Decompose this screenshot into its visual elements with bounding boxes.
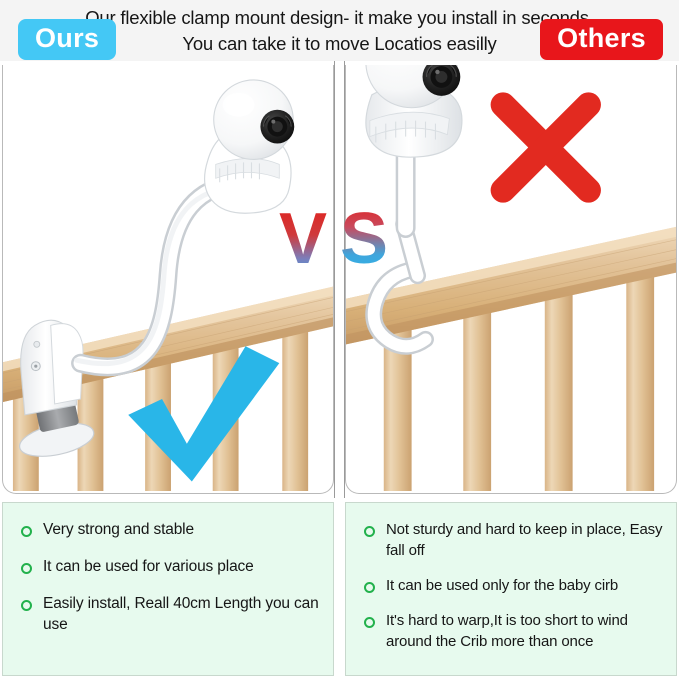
feature-box-others: Not sturdy and hard to keep in place, Ea…: [345, 502, 677, 676]
cross-x-icon: [503, 105, 588, 190]
vs-letter-s: S: [340, 203, 388, 269]
ours-illustration: [3, 65, 333, 491]
list-item: Easily install, Reall 40cm Length you ca…: [21, 593, 323, 635]
divider-line-right: [344, 61, 345, 498]
badge-others: Others: [540, 19, 663, 60]
vs-letter-v: V: [279, 203, 327, 269]
list-item: Not sturdy and hard to keep in place, Ea…: [364, 519, 666, 561]
badge-ours: Ours: [18, 19, 116, 60]
header-line-2: You can take it to move Locatios easilly: [182, 31, 496, 57]
others-feature-list: Not sturdy and hard to keep in place, Ea…: [364, 519, 666, 652]
others-illustration: [346, 65, 676, 491]
feature-text: It can be used for various place: [43, 556, 254, 577]
list-item: It can be used for various place: [21, 556, 323, 577]
vs-graphic: V S: [277, 203, 402, 269]
bullet-icon: [364, 582, 375, 593]
divider-line-left: [334, 61, 335, 498]
bullet-icon: [21, 563, 32, 574]
camera-head: [214, 80, 295, 160]
ours-feature-list: Very strong and stable It can be used fo…: [21, 519, 323, 635]
feature-text: It can be used only for the baby cirb: [386, 575, 618, 596]
list-item: It can be used only for the baby cirb: [364, 575, 666, 596]
list-item: Very strong and stable: [21, 519, 323, 540]
feature-text: It's hard to warp,It is too short to win…: [386, 610, 666, 652]
bullet-icon: [364, 526, 375, 537]
feature-text: Very strong and stable: [43, 519, 194, 540]
panel-others: [345, 65, 677, 494]
bullet-icon: [21, 526, 32, 537]
bullet-icon: [364, 617, 375, 628]
header-line-1: Our flexible clamp mount design- it make…: [85, 5, 594, 31]
bullet-icon: [21, 600, 32, 611]
list-item: It's hard to warp,It is too short to win…: [364, 610, 666, 652]
feature-box-ours: Very strong and stable It can be used fo…: [2, 502, 334, 676]
panel-ours: [2, 65, 334, 494]
feature-boxes: Very strong and stable It can be used fo…: [0, 502, 679, 678]
product-comparison-image: Our flexible clamp mount design- it make…: [0, 0, 679, 678]
comparison-panels: [0, 61, 679, 498]
feature-text: Not sturdy and hard to keep in place, Ea…: [386, 519, 666, 561]
feature-text: Easily install, Reall 40cm Length you ca…: [43, 593, 323, 635]
